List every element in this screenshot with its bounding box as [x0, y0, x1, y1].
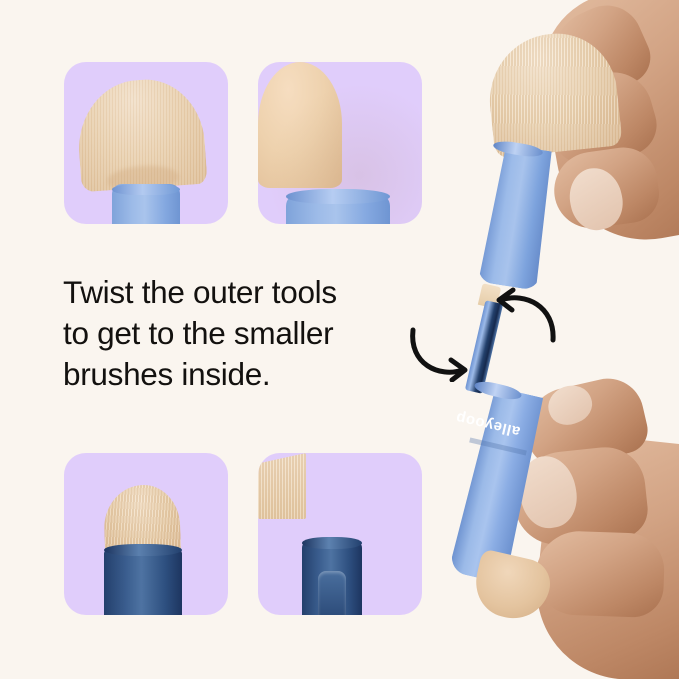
panel-top-left — [64, 62, 228, 224]
kabuki-fan-bristles-icon — [74, 76, 207, 193]
panel-bottom-left — [64, 453, 228, 615]
angled-liner-bristles-icon — [258, 453, 306, 519]
dark-blue-ferrule — [104, 548, 182, 615]
panel-top-right — [258, 62, 422, 224]
wand-sponge-tip — [469, 548, 555, 625]
detached-brush-cap — [487, 147, 549, 287]
panel-bottom-right — [258, 453, 422, 615]
cap-body — [476, 143, 559, 291]
dark-blue-ferrule — [302, 541, 362, 615]
alleyoop-wand: alleyoop — [455, 390, 585, 660]
light-blue-ferrule — [112, 184, 180, 224]
infographic-canvas: Twist the outer tools to get to the smal… — [0, 0, 679, 679]
blender-sponge-icon — [258, 62, 342, 188]
twist-rotation-arrows — [405, 282, 565, 382]
light-blue-ferrule — [286, 194, 390, 224]
page-headline: Twist the outer tools to get to the smal… — [63, 272, 423, 395]
